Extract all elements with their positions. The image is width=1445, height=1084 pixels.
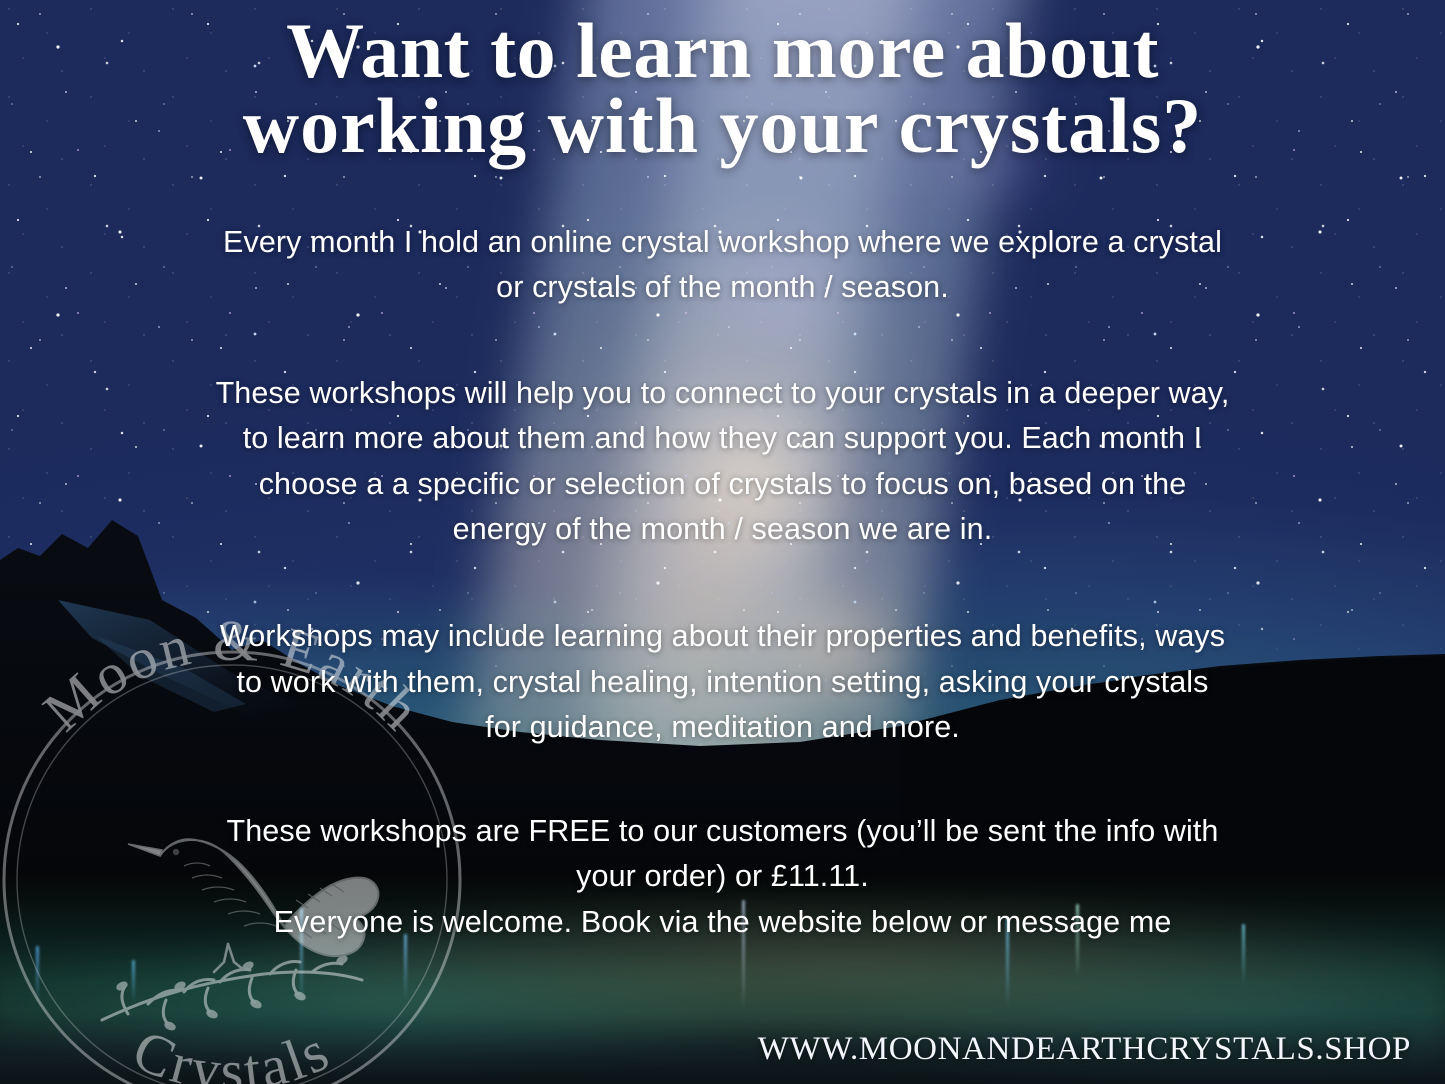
paragraph-line: to work with them, crystal healing, inte…: [68, 660, 1377, 705]
paragraph-line: choose a a specific or selection of crys…: [68, 462, 1377, 507]
paragraph-pricing: These workshops are FREE to our customer…: [68, 809, 1377, 945]
paragraph-line: These workshops will help you to connect…: [68, 371, 1377, 416]
paragraph-topics: Workshops may include learning about the…: [68, 614, 1377, 750]
paragraph-line: Every month I hold an online crystal wor…: [68, 220, 1377, 265]
body-copy: Every month I hold an online crystal wor…: [0, 164, 1445, 945]
paragraph-line: Workshops may include learning about the…: [68, 614, 1377, 659]
paragraph-line: Everyone is welcome. Book via the websit…: [68, 900, 1377, 945]
paragraph-line: or crystals of the month / season.: [68, 265, 1377, 310]
paragraph-line: to learn more about them and how they ca…: [68, 416, 1377, 461]
paragraph-line: energy of the month / season we are in.: [68, 507, 1377, 552]
poster-canvas: Moon & Earth Crystals Want to learn more…: [0, 0, 1445, 1084]
paragraph-line: your order) or £11.11.: [68, 854, 1377, 899]
website-url[interactable]: WWW.MOONANDEARTHCRYSTALS.SHOP: [758, 1031, 1411, 1068]
paragraph-line: for guidance, meditation and more.: [68, 705, 1377, 750]
headline-line-1: Want to learn more about: [40, 14, 1405, 89]
paragraph-intro: Every month I hold an online crystal wor…: [68, 220, 1377, 311]
paragraph-line: These workshops are FREE to our customer…: [68, 809, 1377, 854]
paragraph-what-you-get: These workshops will help you to connect…: [68, 371, 1377, 553]
headline-line-2: working with your crystals?: [40, 89, 1405, 164]
poster-content: Want to learn more about working with yo…: [0, 0, 1445, 1084]
page-title: Want to learn more about working with yo…: [0, 14, 1445, 164]
